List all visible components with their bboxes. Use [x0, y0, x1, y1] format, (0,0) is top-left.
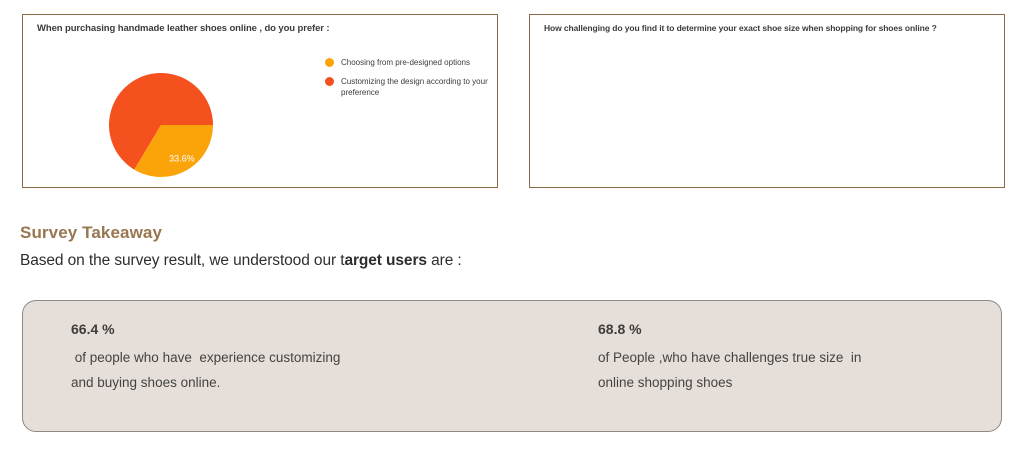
- survey-takeaway-subheading: Based on the survey result, we understoo…: [20, 252, 462, 270]
- legend-item-predesigned[interactable]: Choosing from pre-designed options: [325, 57, 510, 69]
- stat-description-line: of people who have experience customizin…: [71, 346, 340, 371]
- legend-color-swatch-icon: [325, 58, 334, 67]
- pie-chart-preference-svg: 66.4% 33.6%: [103, 62, 219, 188]
- survey-takeaway-panel: 66.4 % of people who have experience cus…: [22, 300, 1002, 432]
- stat-block-customizing: 66.4 % of people who have experience cus…: [71, 321, 340, 396]
- subheading-prefix: Based on the survey result, we understoo…: [20, 252, 344, 269]
- chart-legend-preference: Choosing from pre-designed options Custo…: [325, 57, 510, 106]
- stat-description-line: and buying shoes online.: [71, 371, 340, 396]
- legend-item-label: Choosing from pre-designed options: [341, 57, 470, 69]
- chart-title-sizing: How challenging do you find it to determ…: [544, 23, 994, 33]
- pie-label-customizing: 66.4%: [132, 63, 158, 73]
- survey-chart-card-preference: When purchasing handmade leather shoes o…: [22, 14, 498, 188]
- legend-item-label: Customizing the design according to your…: [341, 76, 510, 99]
- survey-chart-card-sizing: How challenging do you find it to determ…: [529, 14, 1005, 188]
- chart-title-preference: When purchasing handmade leather shoes o…: [37, 23, 487, 34]
- pie-label-predesigned: 33.6%: [169, 154, 195, 164]
- pie-slices: [109, 73, 213, 177]
- stat-block-sizing: 68.8 % of People ,who have challenges tr…: [598, 321, 861, 396]
- subheading-suffix: are :: [427, 252, 462, 269]
- stat-value: 68.8 %: [598, 321, 861, 337]
- legend-item-customizing[interactable]: Customizing the design according to your…: [325, 76, 510, 99]
- pie-chart-preference: 66.4% 33.6%: [103, 62, 219, 188]
- stat-description-line: of People ,who have challenges true size…: [598, 346, 861, 371]
- stat-value: 66.4 %: [71, 321, 340, 337]
- stat-description-line: online shopping shoes: [598, 371, 861, 396]
- subheading-bold: arget users: [344, 252, 426, 269]
- legend-color-swatch-icon: [325, 77, 334, 86]
- survey-takeaway-heading: Survey Takeaway: [20, 223, 162, 243]
